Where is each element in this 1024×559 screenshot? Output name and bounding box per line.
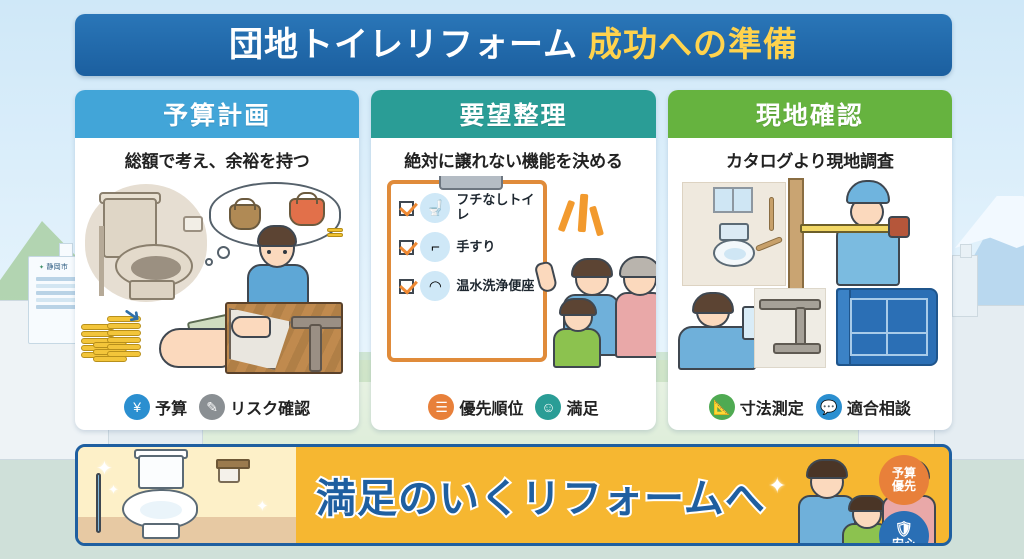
chip-priority[interactable]: ☰ 優先順位 bbox=[428, 394, 523, 420]
title-main-text: 団地トイレリフォーム bbox=[229, 26, 578, 64]
chip-priority-label: 優先順位 bbox=[459, 395, 523, 419]
toilet-paper-holder-icon bbox=[183, 216, 203, 232]
chip-measurement[interactable]: 📐 寸法測定 bbox=[709, 394, 804, 420]
toilet-pipe bbox=[99, 226, 104, 296]
clipboard-check-icon: ✎ bbox=[199, 394, 225, 420]
chip-risk-check-label: リスク確認 bbox=[230, 395, 310, 419]
cards-row: 予算計画 総額で考え、余裕を持つ bbox=[75, 90, 952, 430]
sparkle-icon: ✦ bbox=[108, 483, 119, 496]
card-site-survey-subtitle: カタログより現地調査 bbox=[668, 138, 952, 176]
title-banner: 団地トイレリフォーム成功への準備 bbox=[75, 14, 952, 76]
page-title: 団地トイレリフォーム成功への準備 bbox=[229, 28, 798, 62]
card-requirements-chips: ☰ 優先順位 ☺ 満足 bbox=[371, 388, 655, 430]
person-hair bbox=[692, 292, 734, 314]
purse-brown-icon bbox=[229, 204, 261, 230]
checkbox-checked-icon[interactable] bbox=[399, 240, 414, 255]
checkbox-checked-icon[interactable] bbox=[399, 201, 414, 216]
coins-small-icon bbox=[327, 228, 343, 232]
card-requirements-header: 要望整理 bbox=[371, 90, 655, 138]
chip-budget-label: 予算 bbox=[155, 395, 187, 419]
handrail-vertical-icon bbox=[769, 197, 774, 231]
pipe-horizontal bbox=[759, 299, 821, 310]
grandmother-body bbox=[615, 292, 655, 358]
checklist-item-label: 手すり bbox=[456, 240, 495, 255]
clipboard-clamp bbox=[439, 176, 503, 190]
family-group-illustration bbox=[523, 236, 655, 364]
tape-measure-icon bbox=[800, 224, 892, 233]
card-budget-chips: ¥ 予算 ✎ リスク確認 bbox=[75, 388, 359, 430]
badge-line2: 優先 bbox=[892, 480, 916, 493]
pipe-vertical bbox=[309, 324, 322, 372]
card-requirements: 要望整理 絶対に譲れない機能を決める 🚽 フチなしトイレ ⌐ 手すり ◠ bbox=[371, 90, 655, 430]
pointing-hand-icon bbox=[534, 260, 559, 293]
thought-bubble-dot bbox=[205, 258, 213, 266]
chip-measurement-label: 寸法測定 bbox=[740, 395, 804, 419]
purse-red-icon bbox=[289, 198, 325, 226]
chip-satisfaction[interactable]: ☺ 満足 bbox=[535, 394, 598, 420]
blueprint-lines bbox=[850, 298, 928, 356]
card-budget-subtitle: 総額で考え、余裕を持つ bbox=[75, 138, 359, 176]
card-budget-header: 予算計画 bbox=[75, 90, 359, 138]
chat-consult-icon: 💬 bbox=[816, 394, 842, 420]
card-site-survey-chips: 📐 寸法測定 💬 適合相談 bbox=[668, 388, 952, 430]
grandmother-hair bbox=[619, 256, 655, 278]
toilet-base bbox=[142, 523, 180, 539]
sparkle-icon: ✦ bbox=[256, 499, 269, 514]
bathroom-photo bbox=[682, 182, 786, 286]
document-tab bbox=[59, 243, 73, 257]
washlet-seat-icon: ◠ bbox=[420, 271, 450, 301]
person-eye bbox=[267, 250, 271, 254]
checkbox-checked-icon[interactable] bbox=[399, 279, 414, 294]
child-hair bbox=[559, 298, 597, 316]
father-hair bbox=[571, 258, 613, 278]
banner-badges: 予算 優先 🛡 安心 bbox=[879, 455, 937, 546]
handrail-icon: ⌐ bbox=[420, 232, 450, 262]
measure-icon: 📐 bbox=[709, 394, 735, 420]
toilet-tank bbox=[138, 455, 184, 489]
card-requirements-illustration: 🚽 フチなしトイレ ⌐ 手すり ◠ 温水洗浄便座 bbox=[371, 176, 655, 388]
toilet-icon: 🚽 bbox=[420, 193, 450, 223]
budget-priority-badge[interactable]: 予算 優先 bbox=[879, 455, 929, 505]
father-hair bbox=[806, 459, 848, 479]
yen-money-icon: ¥ bbox=[124, 394, 150, 420]
chip-risk-check[interactable]: ✎ リスク確認 bbox=[199, 394, 310, 420]
old-toilet-icon bbox=[85, 184, 207, 302]
hand-palm bbox=[159, 328, 231, 368]
drain-pipe-photo bbox=[754, 288, 826, 368]
clock-tower-icon bbox=[952, 255, 978, 317]
card-budget-illustration: ➜ bbox=[75, 176, 359, 388]
bottom-banner-text: 満足のいくリフォームへ bbox=[316, 466, 766, 524]
checklist-item[interactable]: ⌐ 手すり bbox=[391, 223, 543, 262]
sparkle-icon: ✦ bbox=[768, 475, 786, 497]
card-budget-plan: 予算計画 総額で考え、余裕を持つ bbox=[75, 90, 359, 430]
pipe-vertical bbox=[795, 307, 806, 347]
pipe-horizontal bbox=[773, 343, 821, 354]
toilet-bowl bbox=[713, 239, 755, 267]
worker-measuring-illustration bbox=[796, 178, 936, 298]
checklist-item[interactable]: ◠ 温水洗浄便座 bbox=[391, 262, 543, 301]
toilet-base bbox=[129, 280, 175, 300]
hidden-pipe-damage-photo bbox=[225, 302, 343, 374]
card-site-survey-header: 現地確認 bbox=[668, 90, 952, 138]
shield-check-icon: 🛡 bbox=[894, 522, 913, 537]
thought-bubble-dot bbox=[217, 246, 230, 259]
priority-list-icon: ☰ bbox=[428, 394, 454, 420]
chip-budget[interactable]: ¥ 予算 bbox=[124, 394, 187, 420]
door-frame bbox=[788, 178, 804, 294]
chip-consultation-label: 適合相談 bbox=[847, 395, 911, 419]
shield-check-badge[interactable]: 🛡 安心 bbox=[879, 511, 929, 546]
smiley-icon: ☺ bbox=[535, 394, 561, 420]
child-body bbox=[553, 328, 601, 368]
handrail-horizontal-icon bbox=[755, 236, 783, 252]
person-hair bbox=[257, 225, 297, 247]
card-site-survey: 現地確認 カタログより現地調査 bbox=[668, 90, 952, 430]
helmet-icon bbox=[846, 180, 890, 204]
tape-measure-case bbox=[888, 216, 910, 238]
sparkle-icon: ✦ bbox=[96, 459, 113, 479]
checklist-item-label: フチなしトイレ bbox=[456, 193, 543, 222]
badge-line2: 安心 bbox=[892, 538, 916, 546]
floor-plan-blueprint-icon bbox=[836, 288, 938, 366]
toilet-paper-holder-icon bbox=[218, 465, 240, 483]
new-toilet-room-illustration: ✦ ✦ ✦ bbox=[78, 447, 296, 543]
toilet-icon bbox=[711, 223, 757, 275]
card-site-survey-illustration bbox=[668, 176, 952, 388]
person-eye bbox=[283, 250, 287, 254]
hand-lifting-icon bbox=[231, 316, 271, 338]
window-icon bbox=[713, 187, 753, 213]
card-requirements-subtitle: 絶対に譲れない機能を決める bbox=[371, 138, 655, 176]
bottom-banner: ✦ ✦ ✦ 満足のいくリフォームへ ✦ ✦ 予算 優先 🛡 安心 bbox=[75, 444, 952, 546]
title-accent-text: 成功への準備 bbox=[588, 26, 798, 64]
new-toilet-icon bbox=[120, 455, 206, 539]
chip-satisfaction-label: 満足 bbox=[566, 395, 598, 419]
handrail-icon bbox=[96, 473, 101, 533]
chip-consultation[interactable]: 💬 適合相談 bbox=[816, 394, 911, 420]
